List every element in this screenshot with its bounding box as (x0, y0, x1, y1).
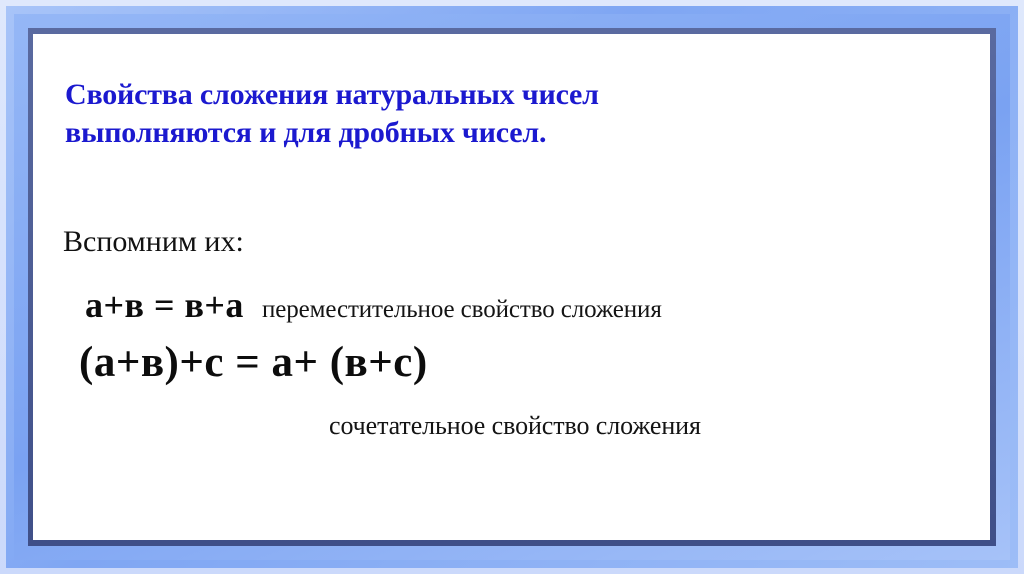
commutative-law-label: переместительное свойство сложения (244, 296, 662, 323)
commutative-formula: а+в = в+а (85, 285, 244, 325)
page-title-line-2: выполняются и для дробных чисел. (65, 114, 945, 152)
commutative-property-row: а+в = в+апереместительное свойство сложе… (85, 284, 662, 331)
slide-content-area: Свойства сложения натуральных чисел выпо… (33, 34, 990, 540)
associative-law-label: сочетательное свойство сложения (329, 409, 701, 443)
page-title-line-1: Свойства сложения натуральных чисел (65, 76, 945, 114)
slide: Свойства сложения натуральных чисел выпо… (0, 0, 1024, 574)
page-title: Свойства сложения натуральных чисел выпо… (65, 76, 945, 152)
recall-prompt: Вспомним их: (63, 224, 244, 260)
associative-formula: (а+в)+с = а+ (в+с) (79, 337, 428, 389)
